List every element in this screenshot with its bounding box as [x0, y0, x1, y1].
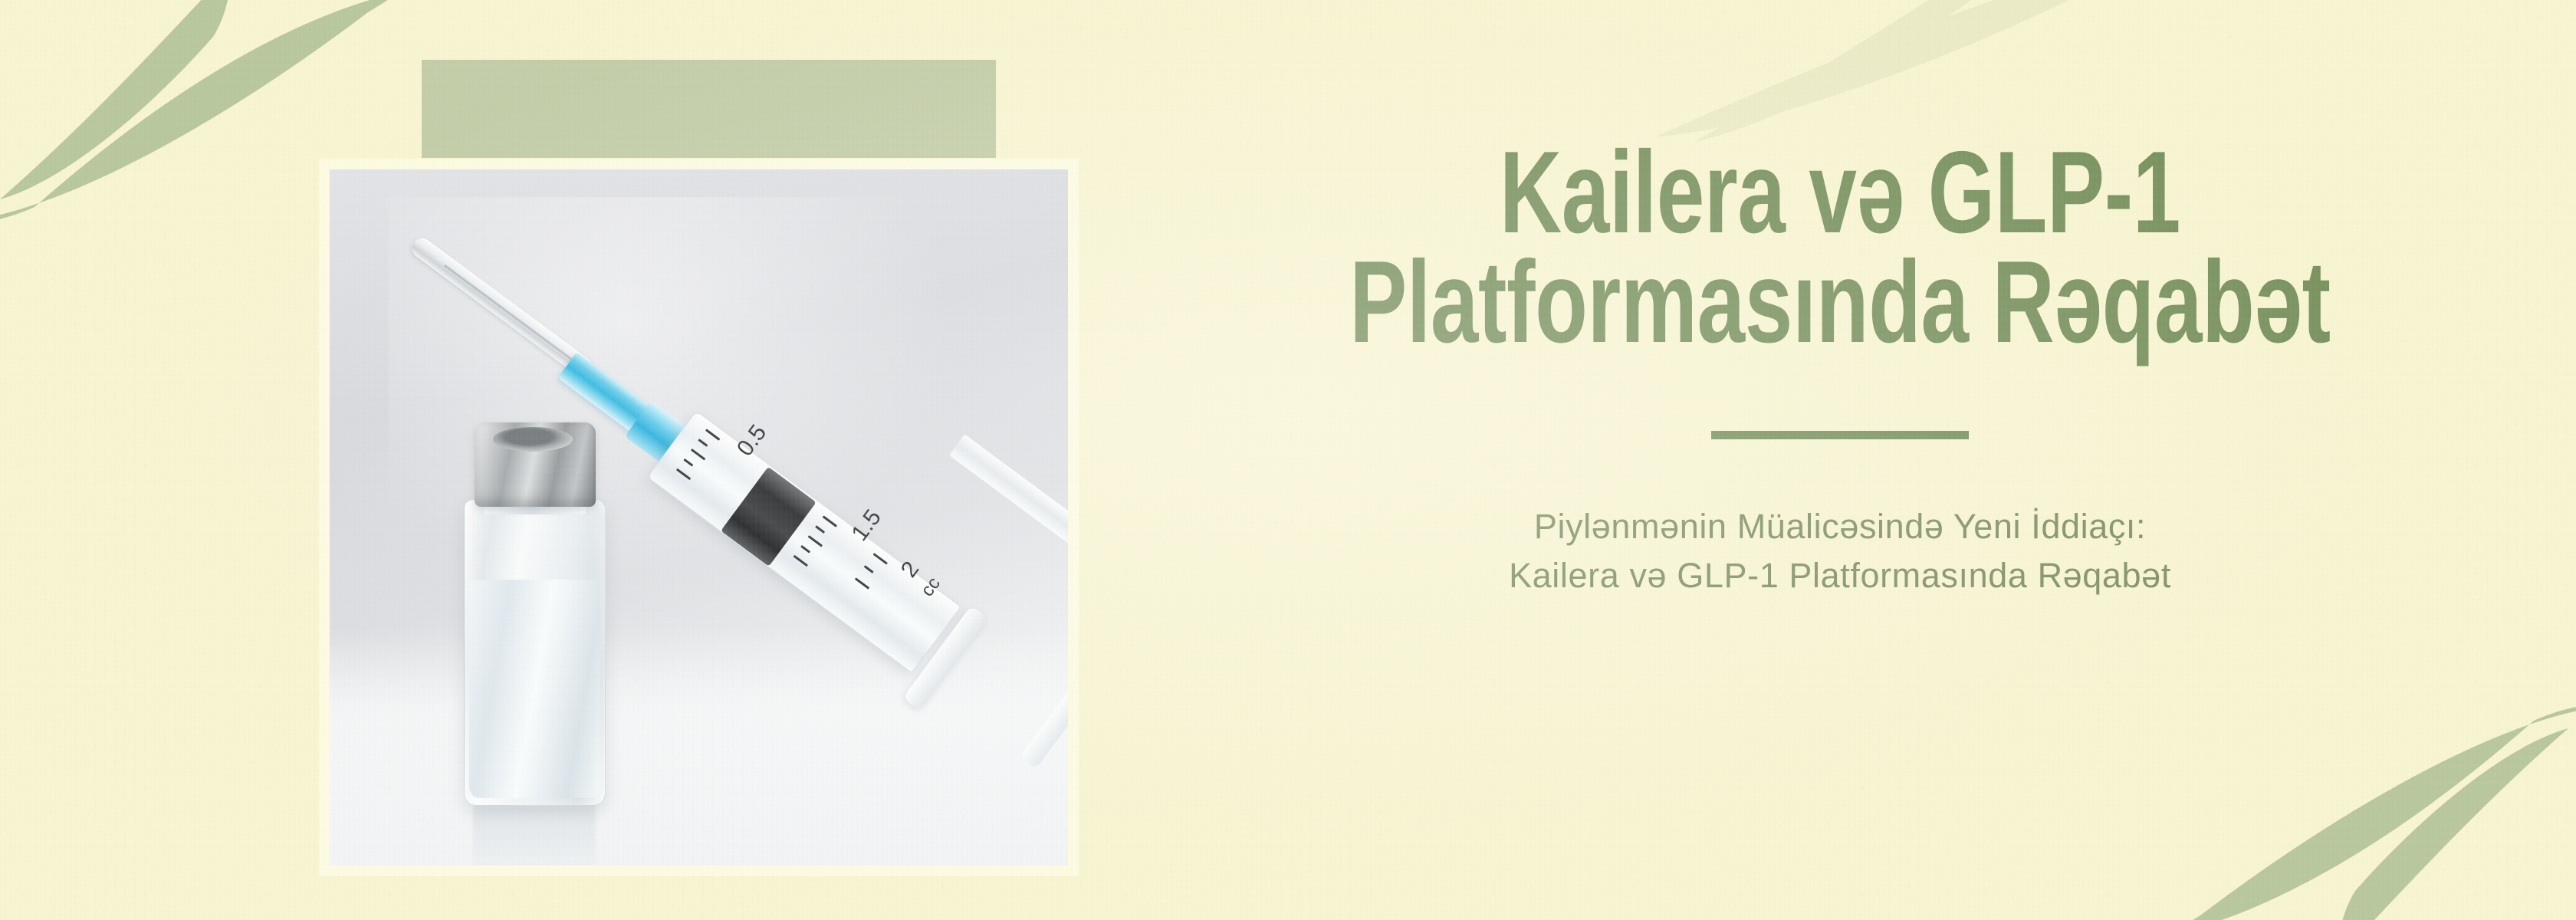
text-column: Kailera və GLP-1 Platformasında Rəqabət …	[1150, 138, 2530, 600]
needle-sheath	[408, 235, 593, 378]
plunger-rod	[949, 434, 1068, 569]
disposable-syringe: 0.5 1.5 2 cc	[374, 202, 1003, 807]
title-divider	[1711, 431, 1969, 439]
scale-label-cc: cc	[917, 573, 945, 601]
vial-reflection	[473, 804, 596, 866]
scale-label-2: 2	[896, 557, 925, 583]
accent-rectangle	[422, 60, 996, 158]
leaf-icon	[2170, 690, 2576, 920]
page-subtitle: Piylənmənin Müalicəsində Yeni İddiaçı: K…	[1150, 502, 2530, 600]
page-title: Kailera və GLP-1 Platformasında Rəqabət	[1329, 138, 2351, 357]
syringe-and-vial-photo: 0.5 1.5 2 cc	[330, 169, 1068, 866]
scale-label-0-5: 0.5	[732, 420, 772, 462]
photo-frame: 0.5 1.5 2 cc	[319, 159, 1079, 876]
banner-canvas: 0.5 1.5 2 cc Kailera və GLP-1 Platformas…	[0, 0, 2576, 920]
plunger-seal	[721, 467, 816, 567]
scale-label-1-5: 1.5	[847, 505, 887, 547]
syringe-barrel: 0.5 1.5 2 cc	[647, 411, 961, 674]
